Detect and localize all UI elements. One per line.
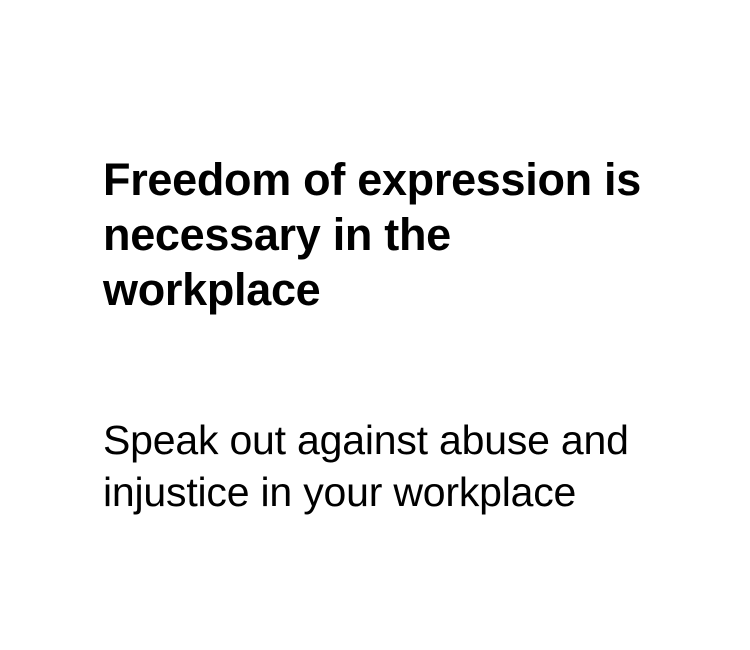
slide-title: Freedom of expression is necessary in th… xyxy=(103,152,663,317)
slide-canvas: Freedom of expression is necessary in th… xyxy=(0,0,750,650)
slide-subtitle: Speak out against abuse and injustice in… xyxy=(103,414,648,518)
